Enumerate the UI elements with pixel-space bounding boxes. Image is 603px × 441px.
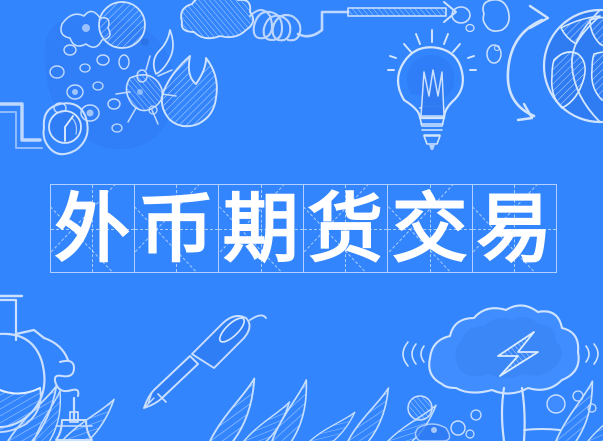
circular-arrow-doodle [508, 6, 548, 120]
grid-cell-5: 交 [388, 184, 473, 273]
bubble-circles-doodle [408, 391, 596, 441]
grid-cell-4: 货 [304, 184, 389, 273]
lightning-cloud-tree-doodle [403, 305, 598, 441]
title-banner-canvas: 外 币 期 货 交 [0, 0, 603, 441]
cloud-doodle [181, 0, 253, 38]
pipe-line-doodle [0, 104, 42, 148]
title-character: 外 [51, 185, 134, 272]
title-character: 易 [473, 185, 557, 272]
microbiology-cells-doodle [45, 2, 176, 149]
fountain-pen-doodle [144, 315, 266, 408]
coil-spring-wire-doodle [250, 10, 348, 40]
title-character: 币 [135, 185, 219, 272]
title-character: 交 [388, 185, 472, 272]
arrow-line-doodle [348, 2, 456, 22]
grid-cell-3: 期 [219, 184, 304, 273]
globe-earth-doodle [544, 10, 603, 122]
chemistry-flask-doodle [0, 296, 78, 432]
title-character: 期 [219, 185, 303, 272]
title-character: 货 [304, 185, 388, 272]
grid-cell-2: 币 [135, 184, 220, 273]
grid-cell-6: 易 [473, 184, 558, 273]
lightbulb-doodle [388, 30, 476, 150]
title-grid: 外 币 期 货 交 [50, 184, 557, 273]
bunsen-burner-doodle [56, 412, 92, 440]
blob-shapes-doodle [452, 0, 509, 63]
grid-cell-1: 外 [50, 184, 135, 273]
leaves-plant-doodle [8, 379, 603, 441]
flame-doodle [154, 30, 217, 126]
clock-gauge-doodle [44, 103, 88, 154]
